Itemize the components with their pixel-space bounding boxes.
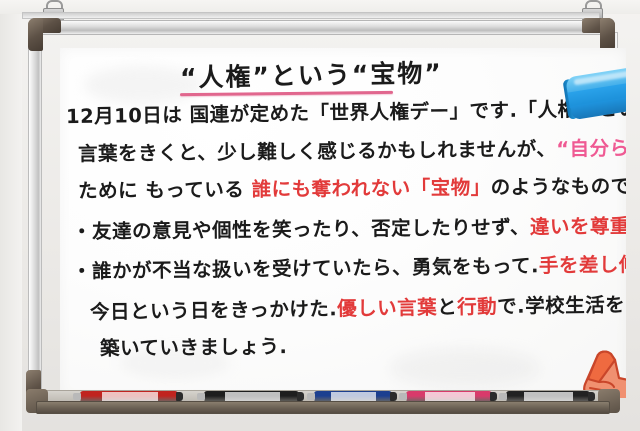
final1-segment-3: 行動 [457,295,497,319]
final1-segment-2: と [437,296,457,319]
final1-segment-4: で.学校生活を [497,293,625,318]
body-line-3: ために もっている 誰にも奪われない「宝物」のようなものです [78,170,626,204]
closing-line-1: 今日という日をきっかけた.優しい言葉と行動で.学校生活を [90,288,625,324]
marker-label [102,392,159,401]
line2-segment-1: “自分らしく生きる” [556,136,626,161]
marker-nib [73,393,81,400]
line2-segment-0: 言葉をきくと、少し難しく感じるかもしれませんが、 [78,137,556,165]
line1-segment-0: 12月10日は 国連が定めた「世界人権デー」です.「人権」という [66,97,626,128]
frame-rail-top-secondary [22,12,600,19]
bullet-point-1: ・友達の意見や個性を笑ったり、否定したりせず、違いを尊重すること. [72,209,626,245]
marker-nib [499,393,507,400]
whiteboard-writing-surface: “人権”という“宝物” 12月10日は 国連が定めた「世界人権デー」です.「人権… [60,48,626,398]
frame-rail-top [32,20,614,35]
closing-line-2: 築いていきましょう. [100,330,288,361]
line3-segment-0: ために もっている [78,178,252,203]
marker-label [331,392,376,401]
frame-corner-top-left [28,18,62,52]
bullet-point-2: ・誰かが不当な扱いを受けていたら、勇気をもって.手を差し伸べること. [72,247,626,284]
bullet1-segment-1: 違いを尊重 [530,215,626,239]
marker-label [524,392,573,401]
marker-nib [197,393,205,400]
whiteboard-eraser[interactable] [565,63,626,121]
body-line-2: 言葉をきくと、少し難しく感じるかもしれませんが、“自分らしく生きる” [78,131,626,167]
whiteboard-scene: “人権”という“宝物” 12月10日は 国連が定めた「世界人権デー」です.「人権… [0,0,640,431]
tray-lip [36,401,610,414]
surface-smudge [390,348,540,388]
bullet2-segment-1: 手を差し伸べる [539,253,626,278]
marker-label [225,392,280,401]
marker-end-cap [297,392,304,401]
body-line-1: 12月10日は 国連が定めた「世界人権デー」です.「人権」という [66,92,626,129]
marker-end-cap [588,392,595,401]
marker-end-cap [176,392,183,401]
marker-label [425,392,475,401]
frame-corner-top-right [582,18,616,52]
bullet2-segment-0: ・誰かが不当な扱いを受けていたら、勇気をもって. [72,254,539,283]
marker-end-cap [490,392,497,401]
whiteboard-frame: “人権”という“宝物” 12月10日は 国連が定めた「世界人権デー」です.「人権… [22,12,622,422]
wall-left-shade [0,0,22,431]
final2-segment-0: 築いていきましょう. [100,335,288,360]
marker-nib [307,393,315,400]
marker-nib [399,393,407,400]
line3-segment-1: 誰にも奪われない「宝物」 [252,176,491,201]
bullet1-segment-0: ・友達の意見や個性を笑ったり、否定したりせず、 [72,216,530,244]
board-title: “人権”という“宝物” [180,53,443,94]
final1-segment-1: 優しい言葉 [337,296,437,320]
final1-segment-0: 今日という日をきっかけた. [90,297,337,323]
frame-rail-left [28,32,42,402]
line3-segment-2: のようなものです [491,175,626,199]
marker-tray [24,388,620,416]
marker-end-cap [390,392,397,401]
